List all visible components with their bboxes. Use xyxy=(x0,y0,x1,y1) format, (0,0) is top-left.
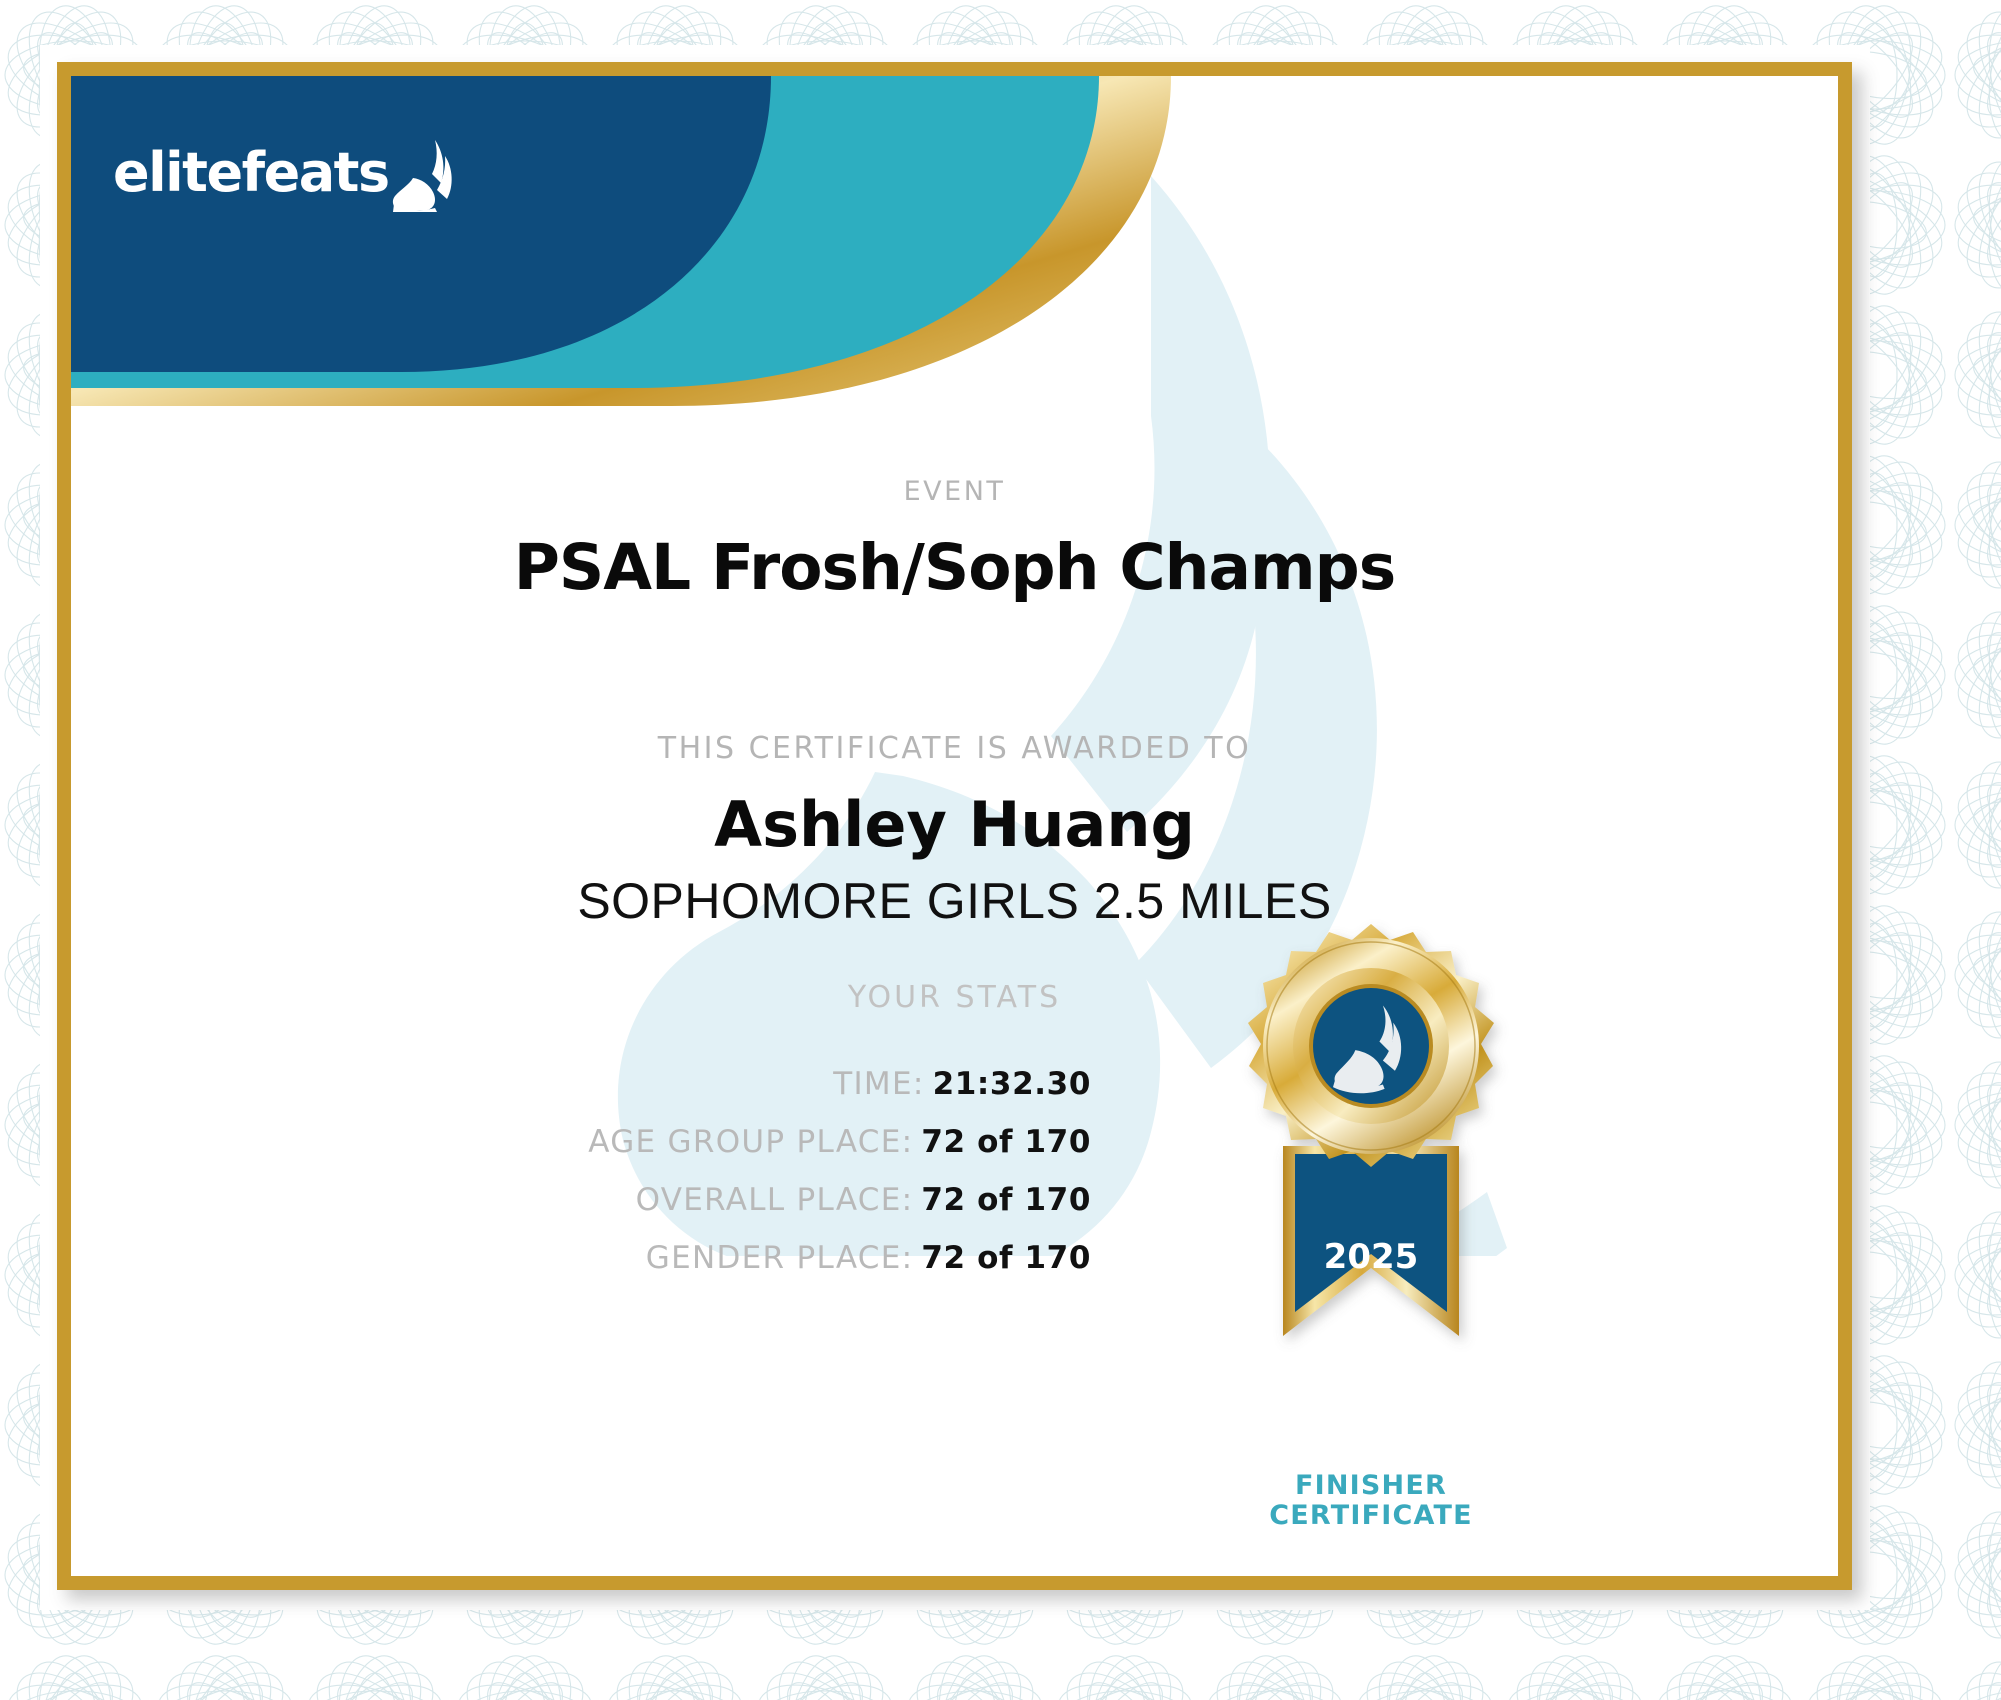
stat-key: AGE GROUP PLACE: xyxy=(588,1124,913,1160)
award-medal-ribbon-icon: 2025 xyxy=(1221,916,1521,1476)
ribbon-year: 2025 xyxy=(1324,1237,1419,1277)
certificate-content: EVENT PSAL Frosh/Soph Champs THIS CERTIF… xyxy=(71,76,1838,1576)
stat-value: 21:32.30 xyxy=(933,1066,1091,1102)
awarded-to-label: THIS CERTIFICATE IS AWARDED TO xyxy=(71,731,1838,766)
certificate-frame: elitefeats EVENT PSAL Frosh/Soph Champs … xyxy=(57,62,1852,1590)
stat-value: 72 of 170 xyxy=(921,1240,1091,1276)
seal-caption: FINISHER CERTIFICATE xyxy=(1221,1471,1521,1531)
stat-value: 72 of 170 xyxy=(921,1182,1091,1218)
seal-caption-line2: CERTIFICATE xyxy=(1221,1501,1521,1531)
stat-row: GENDER PLACE:72 of 170 xyxy=(71,1240,1091,1276)
stat-row: OVERALL PLACE:72 of 170 xyxy=(71,1182,1091,1218)
division-name: SOPHOMORE GIRLS 2.5 MILES xyxy=(71,872,1838,930)
stat-key: OVERALL PLACE: xyxy=(636,1182,914,1218)
stat-key: TIME: xyxy=(833,1066,924,1102)
event-label: EVENT xyxy=(71,476,1838,507)
recipient-name: Ashley Huang xyxy=(71,788,1838,861)
certificate-page: elitefeats EVENT PSAL Frosh/Soph Champs … xyxy=(0,0,2001,1700)
stats-list: TIME:21:32.30 AGE GROUP PLACE:72 of 170 … xyxy=(71,1066,1091,1298)
stat-key: GENDER PLACE: xyxy=(646,1240,914,1276)
stat-row: TIME:21:32.30 xyxy=(71,1066,1091,1102)
stat-value: 72 of 170 xyxy=(921,1124,1091,1160)
stat-row: AGE GROUP PLACE:72 of 170 xyxy=(71,1124,1091,1160)
seal-caption-line1: FINISHER xyxy=(1221,1471,1521,1501)
your-stats-label: YOUR STATS xyxy=(71,980,1838,1015)
event-title: PSAL Frosh/Soph Champs xyxy=(71,531,1838,604)
